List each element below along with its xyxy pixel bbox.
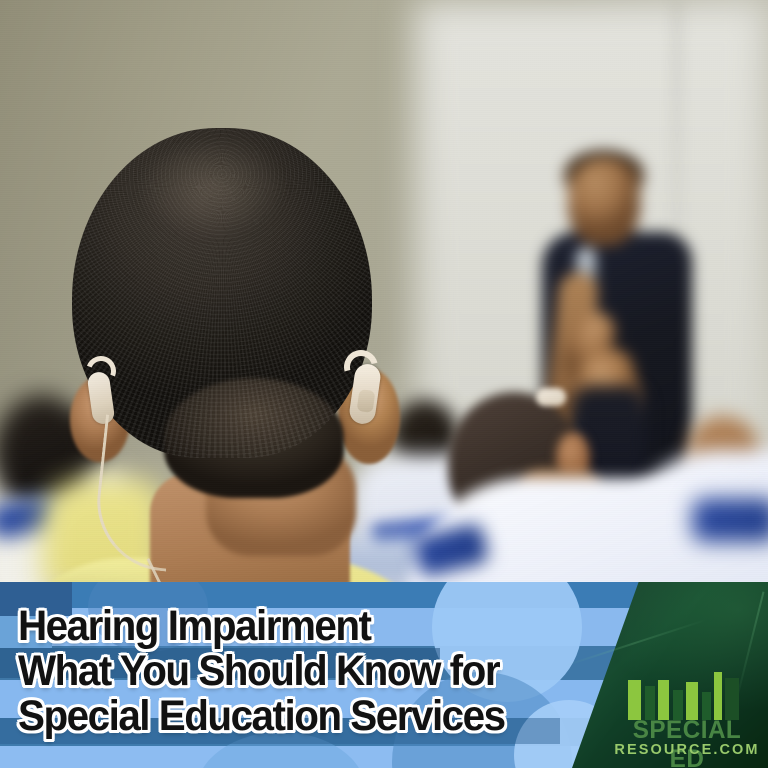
logo-bars-icon [628,672,746,720]
logo-bar-3 [658,680,669,720]
logo-bar-7 [714,672,722,720]
uniform-blue-trim-far-right [692,498,768,542]
logo-bar-1 [628,680,641,720]
headline-line-2: What You Should Know for [18,649,505,694]
boy-crown-highlight [126,142,316,272]
hearing-aid-icon-right-student [536,388,566,406]
headline-line-1: Hearing Impairment [18,604,505,649]
site-logo[interactable]: SPECIAL ED RESOURCE.COM [612,672,762,758]
logo-domain: RESOURCE.COM [612,742,762,758]
logo-bar-2 [645,686,655,720]
logo-bar-8 [725,678,739,720]
teacher-head [568,158,640,246]
featured-image: Hearing Impairment What You Should Know … [0,0,768,768]
foreground-boy [56,128,436,598]
headline-line-3: Special Education Services [18,694,505,739]
logo-bar-5 [686,682,698,720]
page-title: Hearing Impairment What You Should Know … [18,604,505,739]
